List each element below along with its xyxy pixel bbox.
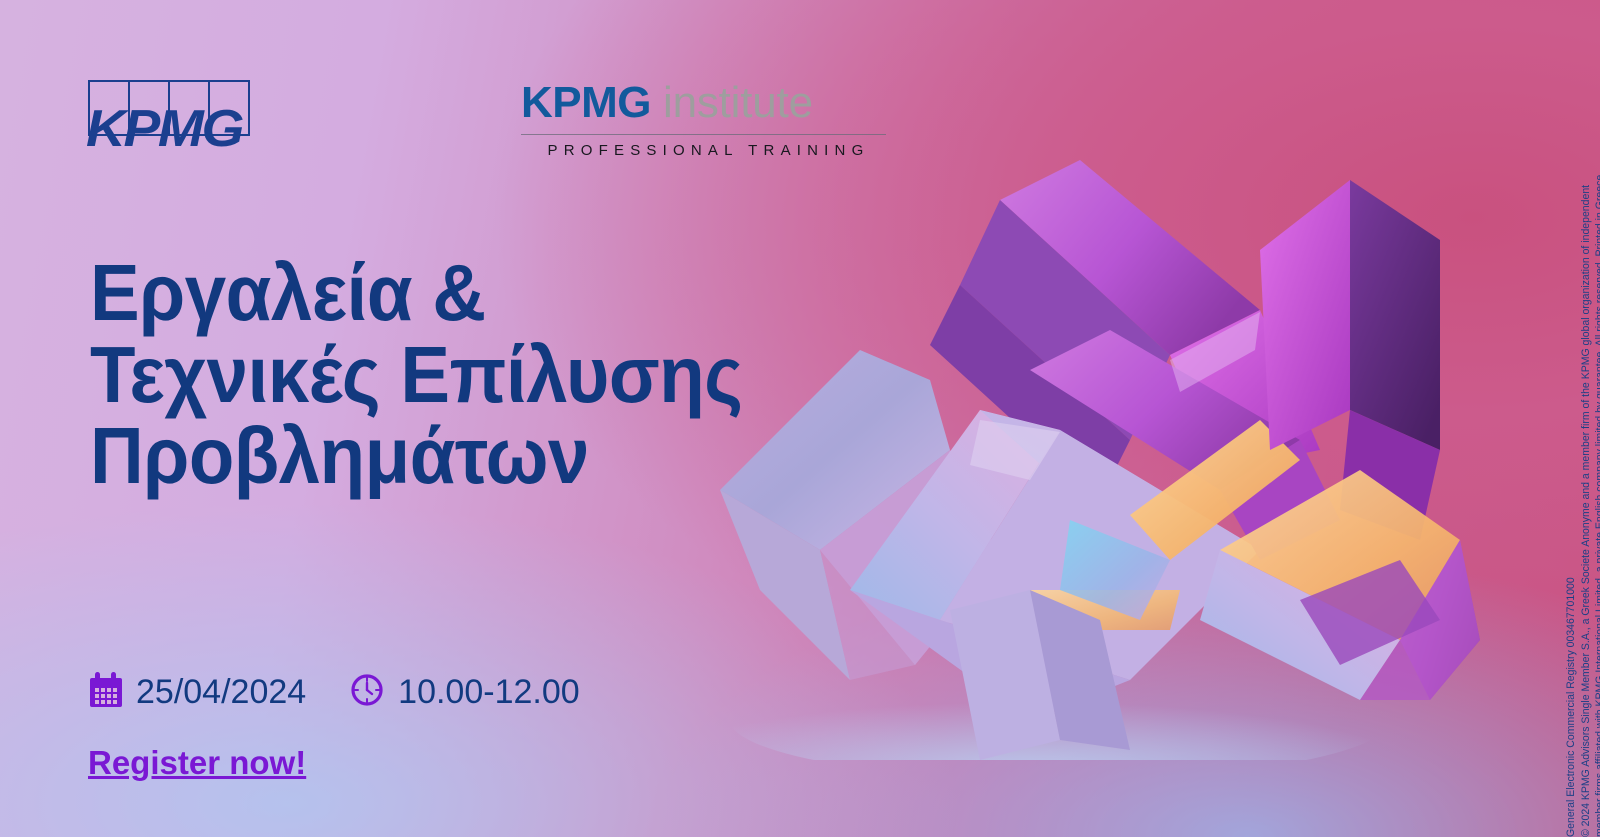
clock-icon <box>350 673 384 712</box>
headline-line-1: Εργαλεία & <box>90 252 685 334</box>
legal-disclaimer: General Electronic Commercial Registry 0… <box>1468 0 1588 837</box>
event-time-label: 10.00-12.00 <box>398 673 580 712</box>
headline-line-2: Τεχνικές Επίλυσης <box>90 334 685 416</box>
institute-divider <box>521 134 886 135</box>
kpmg-event-banner: KPMG KPMG institute PROFESSIONAL TRAININ… <box>0 0 1600 837</box>
event-meta-row: 25/04/2024 10.00-1 <box>88 671 580 714</box>
register-now-link[interactable]: Register now! <box>88 744 306 782</box>
event-date: 25/04/2024 <box>88 671 306 714</box>
page-title: Εργαλεία & Τεχνικές Επίλυσης Προβλημάτων <box>90 252 685 497</box>
event-time: 10.00-12.00 <box>350 673 580 712</box>
legal-line-2: © 2024 KPMG Advisors Single Member S.A.,… <box>1578 0 1593 837</box>
calendar-icon <box>88 671 124 714</box>
institute-subline: PROFESSIONAL TRAINING <box>521 142 886 159</box>
kpmg-logo: KPMG <box>88 80 256 150</box>
legal-line-3: member firms affiliated with KPMG Intern… <box>1593 0 1600 837</box>
kpmg-institute-logo: KPMG institute PROFESSIONAL TRAINING <box>521 78 886 159</box>
institute-logo-row: KPMG institute <box>521 78 886 128</box>
event-date-label: 25/04/2024 <box>136 673 306 712</box>
abstract-3d-sculpture-artwork <box>700 120 1490 760</box>
legal-line-1: General Electronic Commercial Registry 0… <box>1564 0 1579 837</box>
institute-word: institute <box>663 78 813 128</box>
headline-line-3: Προβλημάτων <box>90 415 685 497</box>
institute-kpmg-word: KPMG <box>521 78 651 128</box>
kpmg-logo-wordmark: KPMG <box>86 103 242 155</box>
